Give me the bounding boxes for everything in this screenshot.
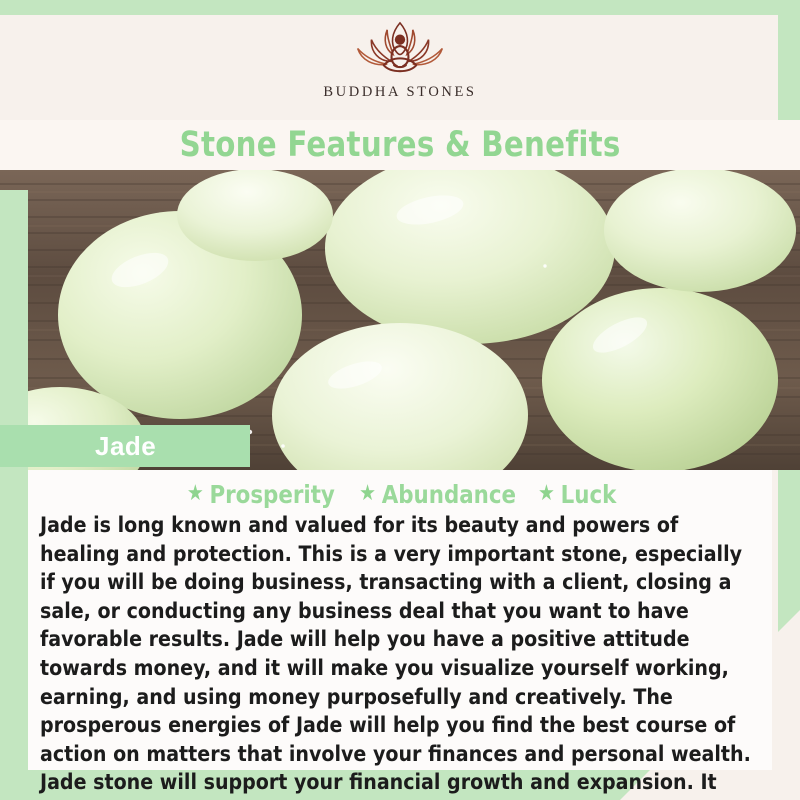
lotus-meditation-icon (336, 18, 464, 78)
brand-name: BUDDHA STONES (323, 84, 476, 101)
benefit-item-prosperity: ★ Prosperity (187, 480, 335, 509)
brand-header: BUDDHA STONES (0, 0, 800, 120)
decoration-left-bar (0, 190, 28, 800)
star-icon: ★ (538, 483, 555, 505)
benefit-label: Luck (561, 480, 617, 509)
benefit-label: Abundance (382, 480, 516, 509)
title-band: Stone Features & Benefits (0, 120, 800, 170)
stone-name: Jade (95, 431, 156, 462)
page-title: Stone Features & Benefits (179, 125, 620, 165)
benefit-label: Prosperity (210, 480, 335, 509)
benefits-list: ★ Prosperity ★ Abundance ★ Luck (40, 478, 762, 510)
stone-description: Jade is long known and valued for its be… (40, 512, 751, 800)
benefit-item-abundance: ★ Abundance (359, 480, 516, 509)
content-area: ★ Prosperity ★ Abundance ★ Luck Jade is … (28, 470, 772, 770)
stone-info-poster: BUDDHA STONES Stone Features & Benefits (0, 0, 800, 800)
benefit-item-luck: ★ Luck (538, 480, 616, 509)
star-icon: ★ (359, 483, 376, 505)
stone-name-banner: Jade (0, 425, 250, 467)
star-icon: ★ (187, 483, 204, 505)
